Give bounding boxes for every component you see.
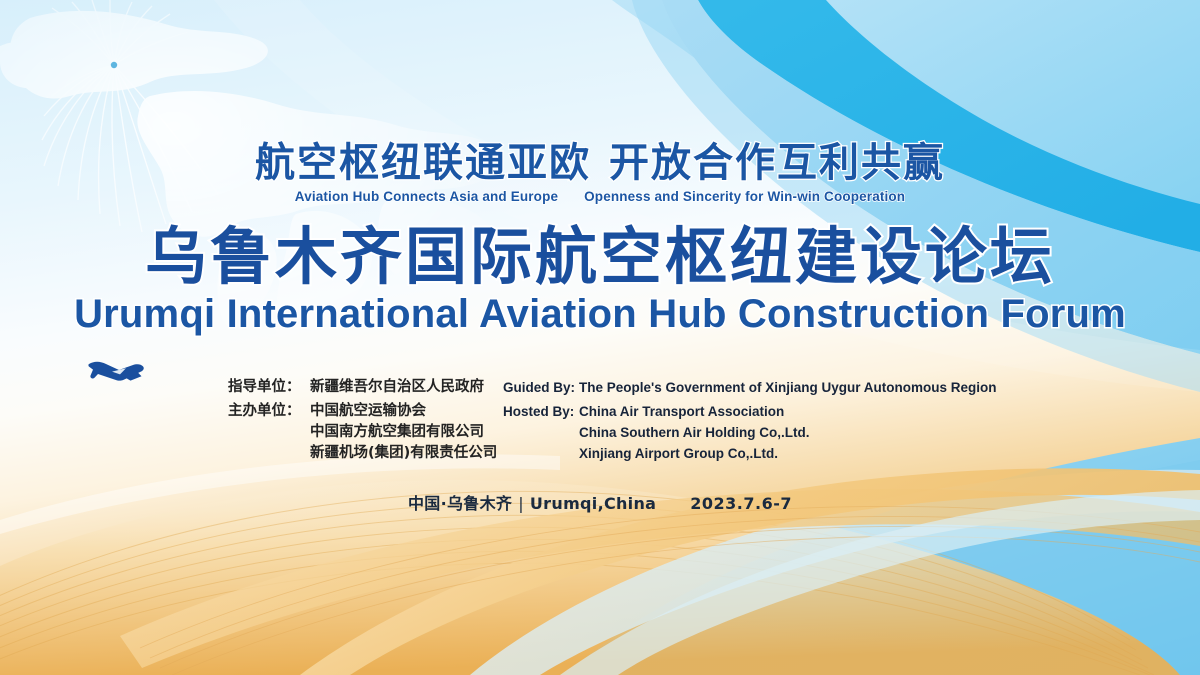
tagline-en-left: Aviation Hub Connects Asia and Europe — [295, 189, 558, 204]
organizer-value: 新疆机场(集团)有限责任公司 — [310, 445, 497, 461]
guided-by-values-en: The People's Government of Xinjiang Uygu… — [579, 377, 997, 398]
tagline-cn-right: 开放合作互利共赢 — [609, 140, 945, 186]
organizer-row: Hosted By: China Air Transport Associati… — [503, 401, 997, 464]
event-poster: 航空枢纽联通亚欧开放合作互利共赢 Aviation Hub Connects A… — [0, 0, 1200, 675]
organizer-value: 中国航空运输协会 — [310, 403, 426, 419]
guided-by-label-en: Guided By: — [503, 377, 579, 398]
organizer-value: China Air Transport Association — [579, 404, 784, 419]
title-block: 乌鲁木齐国际航空枢纽建设论坛 Urumqi International Avia… — [0, 222, 1200, 337]
page-title-english: Urumqi International Aviation Hub Constr… — [0, 292, 1200, 337]
tagline-block: 航空枢纽联通亚欧开放合作互利共赢 Aviation Hub Connects A… — [0, 140, 1200, 204]
tagline-chinese: 航空枢纽联通亚欧开放合作互利共赢 — [0, 140, 1200, 186]
page-title-chinese: 乌鲁木齐国际航空枢纽建设论坛 — [0, 222, 1200, 291]
tagline-english: Aviation Hub Connects Asia and EuropeOpe… — [0, 189, 1200, 204]
organizer-value: 新疆维吾尔自治区人民政府 — [310, 379, 484, 395]
hosted-by-values-cn: 中国航空运输协会 中国南方航空集团有限公司 新疆机场(集团)有限责任公司 — [310, 401, 497, 464]
venue-separator: | — [512, 494, 530, 513]
hosted-by-values-en: China Air Transport Association China So… — [579, 401, 809, 464]
organizers-chinese: 指导单位： 新疆维吾尔自治区人民政府 主办单位： 中国航空运输协会 中国南方航空… — [228, 377, 497, 467]
organizer-value: The People's Government of Xinjiang Uygu… — [579, 380, 997, 395]
organizer-value: Xinjiang Airport Group Co,.Ltd. — [579, 446, 778, 461]
tagline-cn-left: 航空枢纽联通亚欧 — [255, 140, 591, 186]
organizers-english: Guided By: The People's Government of Xi… — [503, 377, 997, 467]
tagline-en-right: Openness and Sincerity for Win-win Coope… — [584, 189, 905, 204]
guided-by-label-cn: 指导单位： — [228, 377, 310, 398]
organizer-value: 中国南方航空集团有限公司 — [310, 424, 484, 440]
organizer-row: 主办单位： 中国航空运输协会 中国南方航空集团有限公司 新疆机场(集团)有限责任… — [228, 401, 497, 464]
hosted-by-label-en: Hosted By: — [503, 401, 579, 422]
venue-city-english: Urumqi,China — [530, 494, 656, 513]
venue-date-line: 中国·乌鲁木齐|Urumqi,China2023.7.6-7 — [0, 490, 1200, 514]
venue-city-chinese: 中国·乌鲁木齐 — [408, 494, 512, 513]
hosted-by-label-cn: 主办单位： — [228, 401, 310, 422]
organizer-row: 指导单位： 新疆维吾尔自治区人民政府 — [228, 377, 497, 398]
organizer-row: Guided By: The People's Government of Xi… — [503, 377, 997, 398]
event-date: 2023.7.6-7 — [690, 494, 792, 513]
organizers-block: 指导单位： 新疆维吾尔自治区人民政府 主办单位： 中国航空运输协会 中国南方航空… — [0, 377, 1200, 477]
guided-by-values-cn: 新疆维吾尔自治区人民政府 — [310, 377, 484, 398]
organizer-value: China Southern Air Holding Co,.Ltd. — [579, 425, 809, 440]
